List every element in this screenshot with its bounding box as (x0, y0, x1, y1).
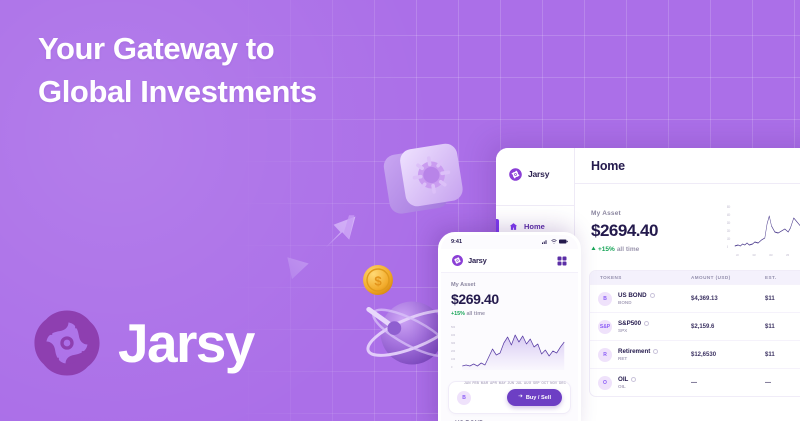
x-tick: NOV (550, 381, 557, 385)
svg-text:400: 400 (727, 212, 730, 217)
buy-sell-label: Buy / Sell (526, 395, 551, 401)
x-tick: JAN (464, 381, 471, 385)
asset-label: My Asset (451, 282, 568, 288)
dashboard-topbar: Home (575, 148, 800, 184)
phone-mockup: 9:41 (438, 232, 581, 421)
sidebar-brand-label: Jarsy (528, 169, 549, 179)
token-amount: — (691, 380, 765, 386)
dashboard-line-chart: 500400300 2001000 JANFEBMAR APRMAY (727, 202, 800, 260)
asset-change-value: +15% (451, 311, 465, 317)
info-icon[interactable] (653, 349, 658, 354)
token-est: — (765, 380, 800, 386)
sidebar-item-label: Home (524, 222, 545, 231)
svg-text:300: 300 (727, 220, 730, 225)
phone-screen: 9:41 (441, 235, 578, 421)
jarsy-pinwheel-logo-icon (451, 254, 464, 267)
token-icon: B (457, 391, 471, 405)
svg-text:400: 400 (451, 334, 456, 337)
token-icon: S&P (598, 320, 612, 334)
x-tick: MAR (481, 381, 489, 385)
svg-text:200: 200 (451, 350, 456, 353)
token-icon: B (598, 292, 612, 306)
x-tick: APR (490, 381, 497, 385)
svg-text:FEB: FEB (753, 255, 756, 257)
buy-sell-button[interactable]: Buy / Sell (507, 389, 562, 406)
x-tick: MAY (499, 381, 506, 385)
token-symbol: BOND (618, 300, 655, 305)
svg-text:200: 200 (727, 228, 730, 233)
info-icon[interactable] (650, 293, 655, 298)
token-name-wrap: US BOND (618, 292, 655, 299)
asset-value: $2694.40 (591, 221, 719, 241)
phone-brand: Jarsy (451, 254, 487, 267)
svg-text:500: 500 (727, 204, 730, 209)
phone-chart-x-labels: JAN FEB MAR APR MAY JUN JUL AUG SEP OCT … (451, 380, 568, 385)
svg-text:100: 100 (727, 236, 730, 241)
dashboard-main: Home My Asset $2694.40 +15% all time (575, 148, 800, 421)
x-tick: JUN (508, 381, 515, 385)
svg-text:APR: APR (786, 254, 789, 258)
x-tick: AUG (524, 381, 531, 385)
x-tick: JUL (516, 381, 522, 385)
svg-text:0: 0 (727, 244, 728, 249)
x-tick: SEP (533, 381, 540, 385)
dashboard-asset-summary: My Asset $2694.40 +15% all time 50040030… (575, 184, 800, 266)
token-icon: R (598, 348, 612, 362)
token-amount: $4,369.13 (691, 296, 765, 302)
column-header-amount: AMOUNT (USD) (691, 275, 765, 280)
asset-change-suffix: all time (617, 246, 639, 253)
x-tick: OCT (541, 381, 548, 385)
token-est: $11 (765, 296, 800, 302)
token-name: S&P500 (618, 320, 641, 327)
asset-change-suffix: all time (466, 311, 485, 317)
token-est: $11 (765, 324, 800, 330)
home-icon (509, 222, 518, 231)
token-symbol: RET (618, 356, 658, 361)
token-name-wrap: OIL (618, 376, 636, 383)
asset-change-value: +15% (598, 246, 615, 253)
svg-text:MAR: MAR (769, 254, 773, 258)
token-amount: $2,159.6 (691, 324, 765, 330)
arrow-up-icon (591, 246, 596, 253)
info-icon[interactable] (644, 321, 649, 326)
token-name: OIL (618, 376, 628, 383)
token-amount: $12,6530 (691, 352, 765, 358)
svg-text:500: 500 (451, 326, 456, 329)
svg-text:$: $ (374, 273, 382, 288)
svg-text:300: 300 (451, 342, 456, 345)
3d-dollar-coin-icon: $ (356, 258, 400, 302)
token-name: Retirement (618, 348, 650, 355)
jarsy-pinwheel-logo-icon (30, 306, 104, 380)
3d-up-arrow-icon (286, 204, 358, 286)
brand-logo: Jarsy (30, 306, 254, 380)
phone-app-header: Jarsy (441, 249, 578, 273)
token-name-wrap: Retirement (618, 348, 658, 355)
brand-wordmark: Jarsy (118, 316, 254, 371)
table-header-row: TOKENS AMOUNT (USD) EST. (590, 271, 800, 284)
holdings-table: TOKENS AMOUNT (USD) EST. B US BOND BOND (589, 270, 800, 397)
status-time: 9:41 (451, 239, 462, 245)
promo-banner: Your Gateway to Global Investments Jarsy (0, 0, 800, 421)
token-est: $11 (765, 352, 800, 358)
svg-text:100: 100 (451, 358, 456, 361)
x-tick: FEB (472, 381, 479, 385)
svg-text:JAN: JAN (736, 254, 739, 258)
swap-icon (518, 394, 523, 401)
phone-asset-summary: My Asset $269.40 +15% all time (441, 273, 578, 375)
token-symbol: OIL (618, 384, 636, 389)
table-row[interactable]: R Retirement RET $12,6530 $11 (590, 340, 800, 368)
grid-menu-icon[interactable] (556, 255, 568, 267)
battery-icon (559, 239, 568, 246)
asset-change: +15% all time (591, 246, 719, 253)
phone-status-bar: 9:41 (441, 235, 578, 249)
x-tick: DEC (559, 381, 566, 385)
table-row[interactable]: S&P S&P500 SPX $2,159.6 $11 (590, 312, 800, 340)
column-header-est: EST. (765, 275, 800, 280)
asset-value: $269.40 (451, 291, 568, 307)
3d-vault-cube-icon (372, 130, 480, 238)
svg-text:0: 0 (451, 366, 453, 369)
jarsy-pinwheel-logo-icon (508, 167, 523, 182)
asset-label: My Asset (591, 210, 719, 217)
token-name-wrap: S&P500 (618, 320, 649, 327)
wifi-icon (551, 239, 557, 246)
dashboard-page-title: Home (591, 159, 625, 173)
phone-action-card: B Buy / Sell (448, 381, 571, 414)
table-row[interactable]: B US BOND BOND $4,369.13 $11 (590, 284, 800, 312)
phone-area-chart: 500400300 2001000 JAN FEB MAR APR MAY JU… (451, 323, 568, 375)
table-row[interactable]: O OIL OIL — — (590, 368, 800, 396)
sidebar-brand: Jarsy (496, 160, 574, 188)
phone-brand-label: Jarsy (468, 256, 487, 265)
column-header-tokens: TOKENS (590, 275, 691, 280)
page-title: Your Gateway to Global Investments (38, 28, 317, 114)
token-symbol: SPX (618, 328, 649, 333)
asset-change: +15% all time (451, 311, 568, 317)
token-name: US BOND (618, 292, 647, 299)
info-icon[interactable] (631, 377, 636, 382)
token-icon: O (598, 376, 612, 390)
signal-icon (542, 239, 548, 246)
